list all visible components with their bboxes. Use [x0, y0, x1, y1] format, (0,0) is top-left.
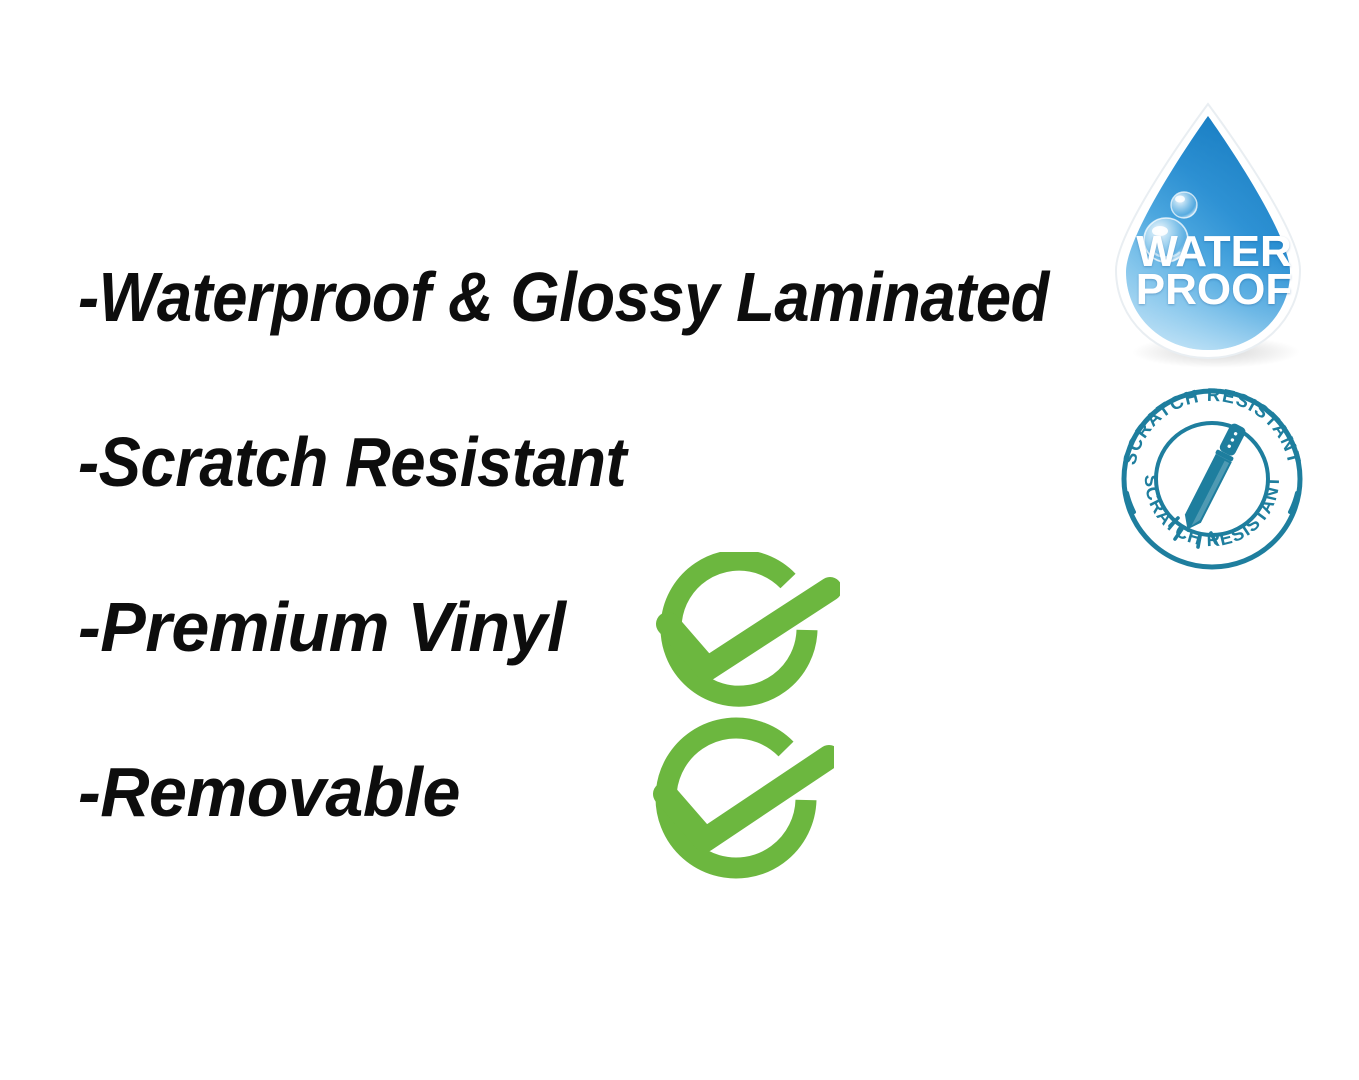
knife-stamp-icon: SCRATCH RESISTANT SCRATCH RESISTANT	[1112, 383, 1312, 571]
feature-item-waterproof: -Waterproof & Glossy Laminated	[78, 262, 1049, 332]
feature-item-premium-vinyl: -Premium Vinyl	[78, 592, 566, 662]
waterproof-badge: WATER PROOF	[1098, 100, 1330, 368]
feature-item-scratch-resistant: -Scratch Resistant	[78, 427, 626, 497]
check-circle-icon	[634, 716, 834, 884]
check-circle-1	[640, 552, 840, 712]
feature-slide: -Waterproof & Glossy Laminated -Scratch …	[0, 0, 1359, 1080]
check-circle-2	[634, 716, 834, 884]
water-drop-icon	[1098, 100, 1330, 368]
knife-icon	[1179, 421, 1249, 533]
scratch-text-top: SCRATCH RESISTANT	[1118, 384, 1305, 467]
check-circle-icon	[640, 552, 840, 712]
feature-list: -Waterproof & Glossy Laminated -Scratch …	[0, 0, 1100, 1080]
feature-item-removable: -Removable	[78, 757, 460, 827]
scratch-resistant-badge: SCRATCH RESISTANT SCRATCH RESISTANT	[1112, 383, 1312, 571]
